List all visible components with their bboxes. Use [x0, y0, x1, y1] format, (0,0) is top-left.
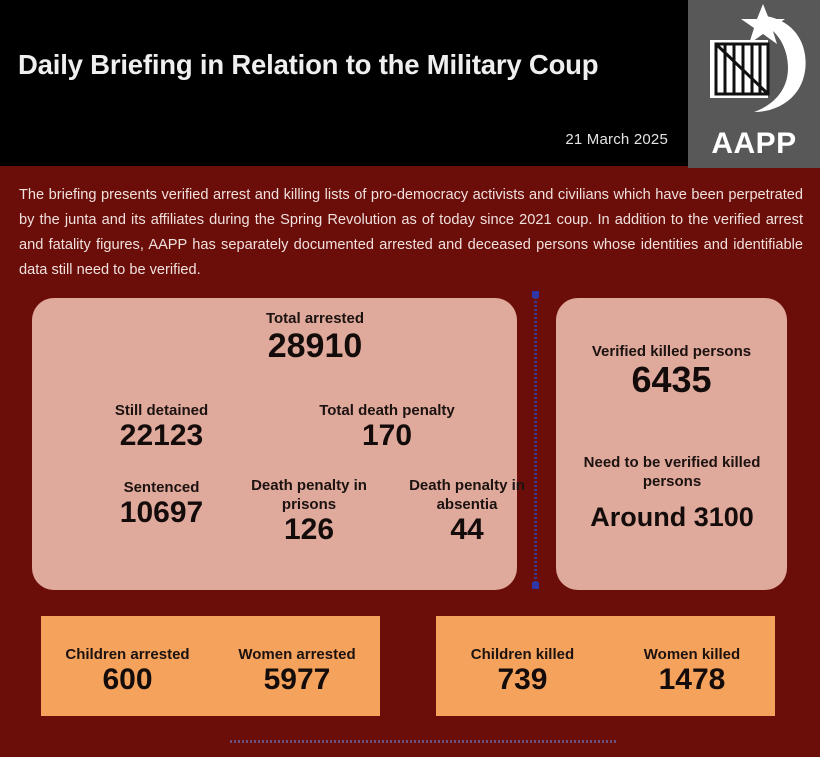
intro-paragraph: The briefing presents verified arrest an…	[19, 183, 803, 283]
stat-value: 1478	[644, 663, 740, 698]
logo-wordmark: AAPP	[688, 127, 820, 161]
stat-value: 600	[65, 663, 189, 698]
stat-label: Need to be verified killed persons	[574, 453, 770, 491]
killed-panel: Verified killed persons 6435 Need to be …	[556, 298, 787, 590]
stat-death-penalty-in-absentia: Death penalty in absentia 44	[392, 476, 542, 546]
stat-value: 6435	[564, 361, 779, 400]
divider-line	[534, 297, 537, 583]
stat-need-verification-killed: Need to be verified killed persons Aroun…	[574, 453, 770, 532]
stat-women-killed: Women killed 1478	[644, 646, 740, 698]
stat-children-arrested: Children arrested 600	[65, 646, 189, 698]
stat-label: Death penalty in absentia	[392, 476, 542, 514]
stat-total-arrested: Total arrested 28910	[180, 309, 450, 365]
stat-value: 170	[272, 420, 502, 452]
stat-label: Total death penalty	[272, 401, 502, 420]
stat-still-detained: Still detained 22123	[54, 401, 269, 452]
star-crescent-prison-bars-icon	[688, 2, 820, 122]
stat-value: 126	[234, 514, 384, 546]
stat-label: Still detained	[54, 401, 269, 420]
stat-label: Women killed	[644, 646, 740, 663]
stat-value: Around 3100	[574, 503, 770, 532]
killed-breakdown-box: Children killed 739 Women killed 1478	[436, 616, 775, 716]
stat-value: 739	[471, 663, 574, 698]
page-title: Daily Briefing in Relation to the Milita…	[18, 48, 668, 82]
arrested-breakdown-box: Children arrested 600 Women arrested 597…	[41, 616, 380, 716]
stat-label: Children arrested	[65, 646, 189, 663]
stat-children-killed: Children killed 739	[471, 646, 574, 698]
stat-value: 22123	[54, 420, 269, 452]
stat-total-death-penalty: Total death penalty 170	[272, 401, 502, 452]
stat-label: Death penalty in prisons	[234, 476, 384, 514]
vertical-dotted-divider	[532, 291, 539, 589]
bottom-dotted-divider	[230, 740, 616, 743]
stat-label: Women arrested	[238, 646, 355, 663]
stat-death-penalty-in-prisons: Death penalty in prisons 126	[234, 476, 384, 546]
stat-verified-killed: Verified killed persons 6435	[564, 342, 779, 400]
briefing-date: 21 March 2025	[565, 131, 668, 148]
stat-value: 28910	[180, 328, 450, 365]
stat-label: Total arrested	[180, 309, 450, 328]
stat-label: Children killed	[471, 646, 574, 663]
aapp-logo-panel: AAPP	[688, 0, 820, 168]
stat-value: 44	[392, 514, 542, 546]
divider-cap-bottom	[532, 582, 539, 589]
stat-value: 5977	[238, 663, 355, 698]
arrests-panel: Total arrested 28910 Still detained 2212…	[32, 298, 517, 590]
stat-women-arrested: Women arrested 5977	[238, 646, 355, 698]
